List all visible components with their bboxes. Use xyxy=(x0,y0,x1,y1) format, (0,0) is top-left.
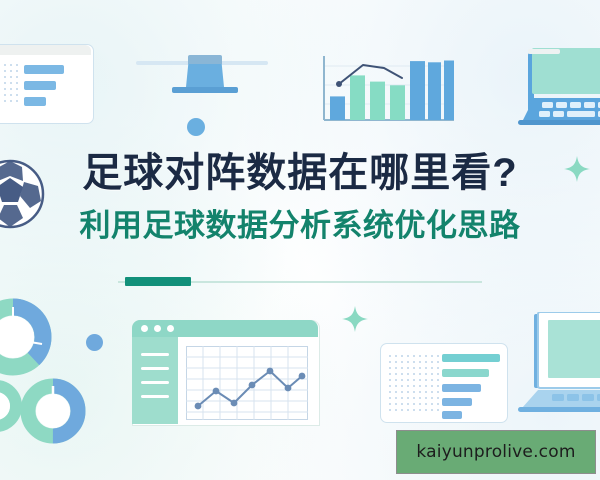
sidebar-line xyxy=(141,395,169,398)
ranking-bar xyxy=(442,369,489,377)
line-chart-svg xyxy=(186,346,308,420)
line-chart xyxy=(186,346,308,420)
laptop xyxy=(500,48,600,132)
laptop xyxy=(508,312,600,416)
browser-titlebar xyxy=(132,320,318,337)
headline-block: 足球对阵数据在哪里看? 利用足球数据分析系统优化思路 xyxy=(0,150,600,244)
sparkle-icon xyxy=(342,306,368,337)
ranking-bar xyxy=(442,411,462,419)
ranking-bar xyxy=(442,384,481,392)
page-title: 足球对阵数据在哪里看? xyxy=(0,150,600,197)
donut-chart-small-svg xyxy=(0,380,22,432)
sidebar-line xyxy=(141,381,169,384)
ranking-card xyxy=(380,343,506,421)
stat-card-bar xyxy=(24,81,56,90)
poster-image: 足球对阵数据在哪里看? 利用足球数据分析系统优化思路 kaiyunprolive… xyxy=(0,0,600,480)
donut-chart-svg xyxy=(0,298,52,376)
laptop-svg xyxy=(508,312,600,416)
divider-accent xyxy=(125,277,191,286)
donut-chart xyxy=(0,298,52,376)
laptop-svg xyxy=(500,48,600,132)
page-subtitle: 利用足球数据分析系统优化思路 xyxy=(0,207,600,244)
stat-card-bar xyxy=(24,97,46,106)
watermark-text: kaiyunprolive.com xyxy=(416,442,575,462)
monitor-screen-top xyxy=(188,55,222,64)
accent-dot xyxy=(187,118,205,136)
stat-card-bar xyxy=(24,65,64,74)
stat-card xyxy=(0,44,92,122)
accent-dot xyxy=(86,334,103,351)
stat-card-titlebar xyxy=(0,45,91,55)
watermark: kaiyunprolive.com xyxy=(396,430,596,474)
ranking-bar xyxy=(442,354,500,362)
donut-chart-small xyxy=(0,380,22,432)
donut-chart-mid xyxy=(20,378,86,444)
sidebar-line xyxy=(141,353,169,356)
monitor-base xyxy=(172,87,238,93)
browser-line-chart xyxy=(132,320,318,424)
ranking-card-dotgrid xyxy=(387,353,439,413)
window-dot xyxy=(154,325,161,332)
desktop-monitor xyxy=(136,55,268,127)
window-dot xyxy=(167,325,174,332)
donut-chart-mid-svg xyxy=(20,378,86,444)
ranking-bar xyxy=(442,398,472,406)
window-dot xyxy=(141,325,148,332)
bar-chart-svg xyxy=(318,52,458,128)
sparkle-svg xyxy=(342,306,368,332)
monitor-screen xyxy=(186,64,224,87)
bar-chart xyxy=(318,52,458,128)
sidebar-line xyxy=(141,367,169,370)
stat-card-dotgrid xyxy=(0,62,20,106)
browser-sidebar xyxy=(132,337,178,424)
